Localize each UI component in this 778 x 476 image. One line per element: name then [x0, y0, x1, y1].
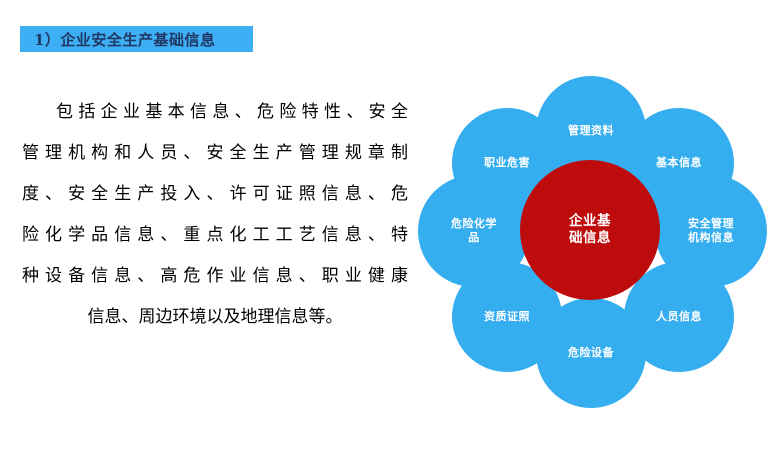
page-title: 1）企业安全生产基础信息 — [34, 29, 215, 50]
node-label: 职业危害 — [484, 156, 530, 170]
section-header-banner: 1）企业安全生产基础信息 — [20, 26, 253, 52]
body-line: 种设备信息、高危作业信息、职业健康 — [22, 256, 408, 297]
node-center-enterprise-basic-info[interactable]: 企业基 础信息 — [520, 160, 660, 300]
node-label: 危险化学 品 — [451, 217, 497, 245]
body-line: 险化学品信息、重点化工工艺信息、特 — [22, 215, 408, 256]
node-label: 危险设备 — [568, 346, 614, 360]
node-label: 资质证照 — [484, 310, 530, 324]
body-line: 包括企业基本信息、危险特性、安全 — [22, 92, 408, 133]
node-label-line1: 危险化学 — [451, 217, 497, 230]
node-label-line2: 础信息 — [569, 230, 611, 246]
body-line: 度、安全生产投入、许可证照信息、危 — [22, 174, 408, 215]
node-label: 管理资料 — [568, 124, 614, 138]
node-label: 人员信息 — [656, 310, 702, 324]
body-line: 信息、周边环境以及地理信息等。 — [22, 297, 408, 338]
node-label-line1: 企业基 — [569, 213, 611, 229]
node-label-line2: 品 — [468, 231, 480, 244]
node-label: 安全管理 机构信息 — [688, 217, 734, 245]
node-label: 基本信息 — [656, 156, 702, 170]
enterprise-info-radial-diagram: 管理资料 基本信息 安全管理 机构信息 人员信息 危险设备 资质证照 — [410, 50, 770, 410]
node-label-line1: 安全管理 — [688, 217, 734, 230]
node-label: 企业基 础信息 — [569, 213, 611, 247]
body-line: 管理机构和人员、安全生产管理规章制 — [22, 133, 408, 174]
node-label-line2: 机构信息 — [688, 231, 734, 244]
page-root: 1）企业安全生产基础信息 包括企业基本信息、危险特性、安全 管理机构和人员、安全… — [0, 0, 778, 476]
body-paragraph: 包括企业基本信息、危险特性、安全 管理机构和人员、安全生产管理规章制 度、安全生… — [22, 92, 408, 338]
